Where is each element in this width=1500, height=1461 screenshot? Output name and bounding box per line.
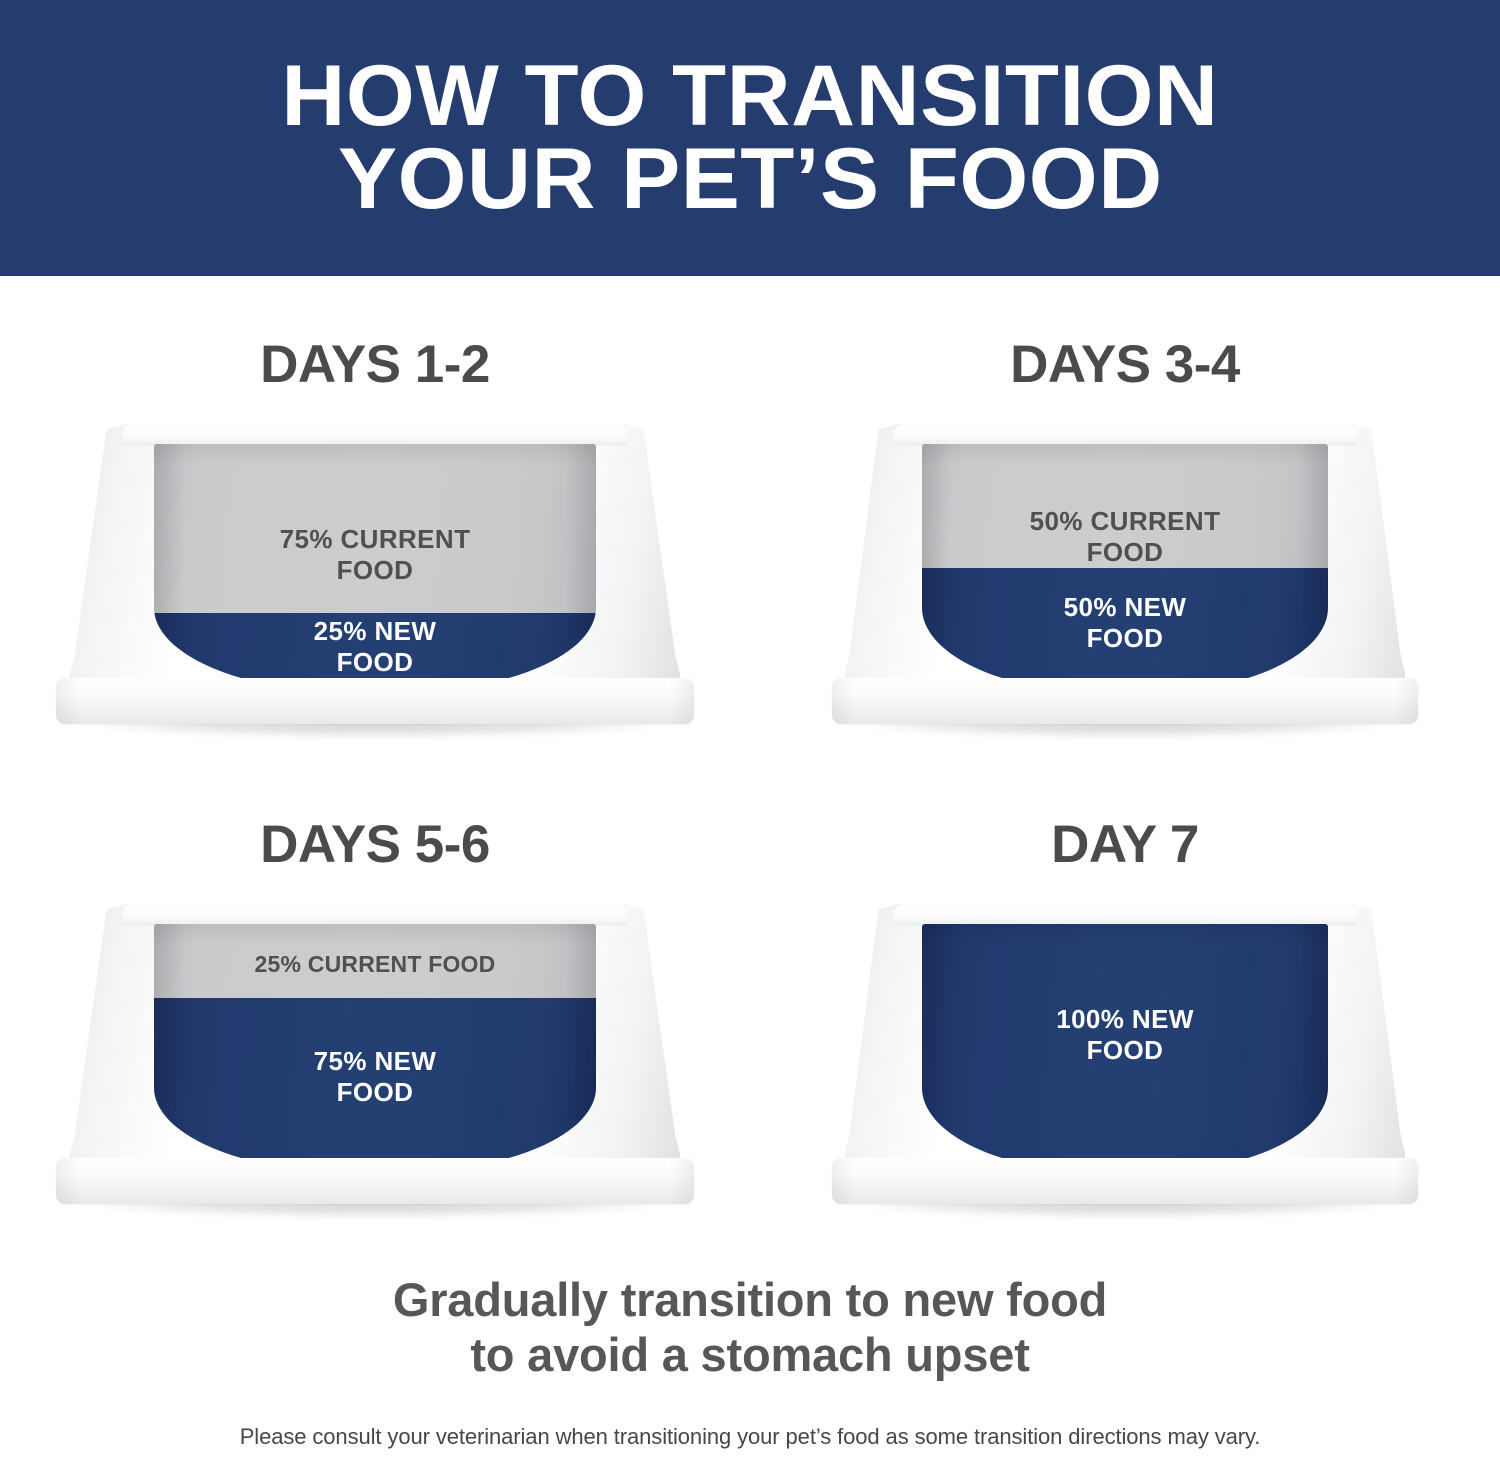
- food-bowl-3: 25% CURRENT FOOD 75% NEW FOOD: [70, 904, 680, 1204]
- new-food-line1: 50% NEW: [845, 592, 1405, 623]
- current-food-label-1: 75% CURRENT FOOD: [70, 524, 680, 585]
- tagline: Gradually transition to new food to avoi…: [0, 1272, 1500, 1383]
- bowl-rim: [893, 904, 1358, 926]
- step-card-days-3-4: DAYS 3-4 50% CURRENT FOOD 50% NEW FOOD: [750, 276, 1500, 756]
- day-label-3: DAYS 5-6: [0, 814, 750, 875]
- disclaimer-text: Please consult your veterinarian when tr…: [0, 1424, 1500, 1450]
- bowl-base: [832, 1158, 1418, 1204]
- bowl-rim: [122, 424, 628, 446]
- step-card-days-1-2: DAYS 1-2 75% CURRENT FOOD 25% NEW FOOD: [0, 276, 750, 756]
- current-food-line1: 25% CURRENT FOOD: [70, 951, 680, 978]
- new-food-line2: FOOD: [70, 1077, 680, 1108]
- bowl-rim: [122, 904, 628, 926]
- new-food-line2: FOOD: [845, 1035, 1405, 1066]
- step-card-days-5-6: DAYS 5-6 25% CURRENT FOOD 75% NEW FOOD: [0, 756, 750, 1236]
- step-card-day-7: DAY 7 100% NEW FOOD: [750, 756, 1500, 1236]
- new-food-label-2: 50% NEW FOOD: [845, 592, 1405, 653]
- current-food-label-3: 25% CURRENT FOOD: [70, 951, 680, 978]
- day-label-2: DAYS 3-4: [750, 334, 1500, 395]
- current-food-line2: FOOD: [70, 555, 680, 586]
- new-food-label-4: 100% NEW FOOD: [845, 1004, 1405, 1065]
- bowl-rim: [893, 424, 1358, 446]
- bowl-base: [56, 678, 694, 724]
- new-food-label-3: 75% NEW FOOD: [70, 1046, 680, 1107]
- current-food-label-2: 50% CURRENT FOOD: [845, 506, 1405, 567]
- new-food-line1: 25% NEW: [70, 616, 680, 647]
- header-title-line2: YOUR PET’S FOOD: [338, 138, 1163, 221]
- bowl-grid: DAYS 1-2 75% CURRENT FOOD 25% NEW FOOD: [0, 276, 1500, 1236]
- current-food-line1: 50% CURRENT: [845, 506, 1405, 537]
- food-bowl-1: 75% CURRENT FOOD 25% NEW FOOD: [70, 424, 680, 724]
- bowl-base: [56, 1158, 694, 1204]
- day-label-4: DAY 7: [750, 814, 1500, 875]
- bowl-food-well: [922, 444, 1327, 692]
- new-food-line2: FOOD: [845, 623, 1405, 654]
- new-food-line2: FOOD: [70, 647, 680, 678]
- tagline-line2: to avoid a stomach upset: [0, 1327, 1500, 1382]
- food-bowl-2: 50% CURRENT FOOD 50% NEW FOOD: [845, 424, 1405, 724]
- infographic-page: HOW TO TRANSITION YOUR PET’S FOOD DAYS 1…: [0, 0, 1500, 1461]
- tagline-line1: Gradually transition to new food: [0, 1272, 1500, 1327]
- current-food-line2: FOOD: [845, 537, 1405, 568]
- current-food-line1: 75% CURRENT: [70, 524, 680, 555]
- new-food-line1: 75% NEW: [70, 1046, 680, 1077]
- header-banner: HOW TO TRANSITION YOUR PET’S FOOD: [0, 0, 1500, 276]
- day-label-1: DAYS 1-2: [0, 334, 750, 395]
- bowl-base: [832, 678, 1418, 724]
- new-food-label-1: 25% NEW FOOD: [70, 616, 680, 677]
- new-food-line1: 100% NEW: [845, 1004, 1405, 1035]
- header-title-line1: HOW TO TRANSITION: [281, 55, 1218, 138]
- food-bowl-4: 100% NEW FOOD: [845, 904, 1405, 1204]
